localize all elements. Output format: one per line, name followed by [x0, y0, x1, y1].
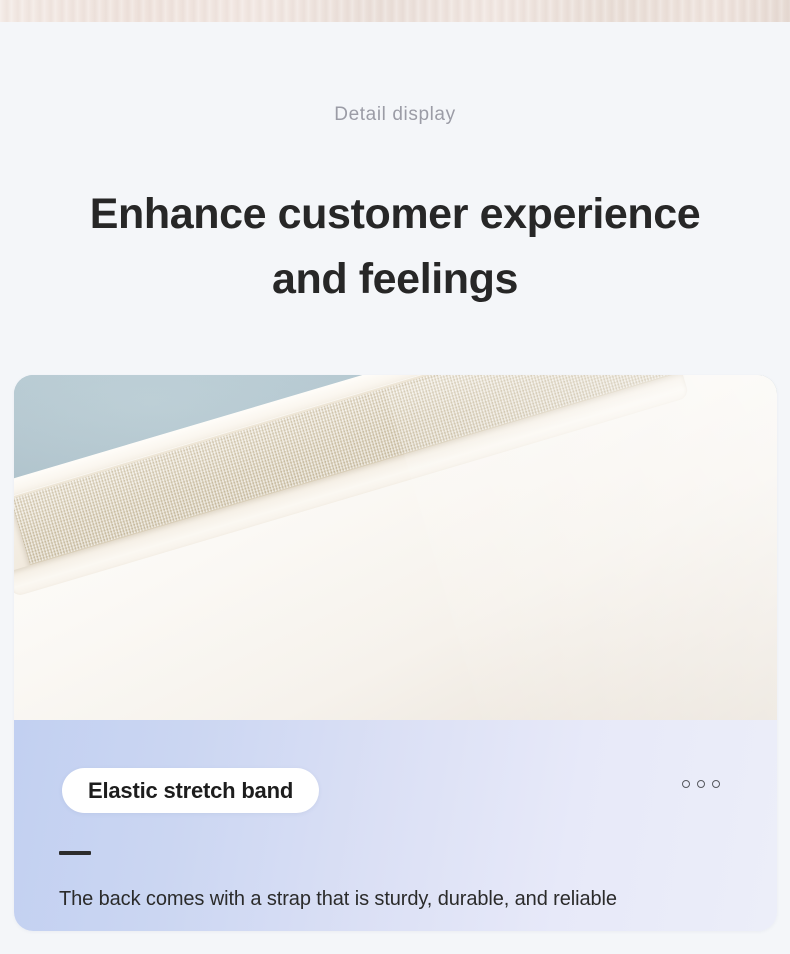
product-photo: [14, 375, 777, 720]
page-title: Enhance customer experience and feelings: [45, 182, 745, 311]
divider: [59, 851, 91, 855]
caption-panel: Elastic stretch band The back comes with…: [14, 720, 777, 931]
top-texture-band: [0, 0, 790, 22]
page-title-line-2: and feelings: [45, 247, 745, 312]
dot-icon: [712, 780, 720, 788]
dot-icon: [697, 780, 705, 788]
page-title-line-1: Enhance customer experience: [45, 182, 745, 247]
more-options-dots[interactable]: [682, 780, 720, 788]
feature-caption: The back comes with a strap that is stur…: [59, 888, 617, 911]
feature-badge: Elastic stretch band: [62, 768, 319, 813]
page-body: Detail display Enhance customer experien…: [0, 22, 790, 954]
detail-card: Elastic stretch band The back comes with…: [14, 375, 777, 931]
dot-icon: [682, 780, 690, 788]
section-eyebrow: Detail display: [0, 104, 790, 126]
